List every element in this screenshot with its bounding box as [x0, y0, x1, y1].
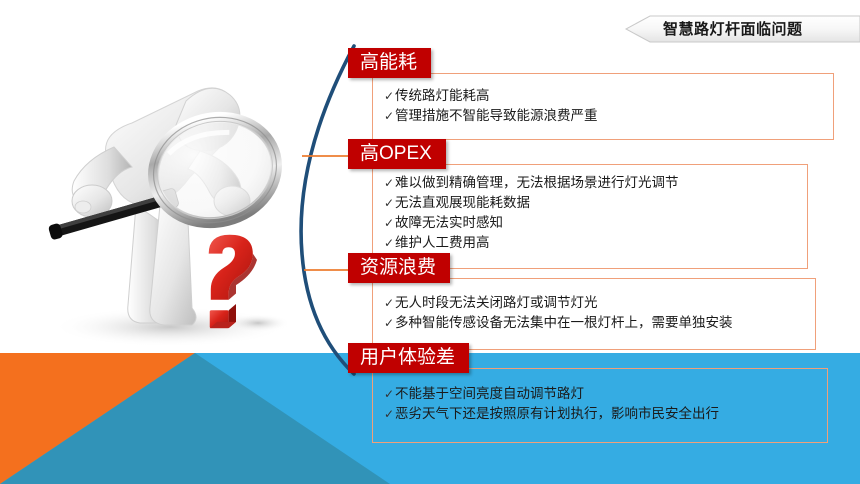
check-icon: ✓: [384, 405, 395, 424]
list-item: ✓多种智能传感设备无法集中在一根灯杆上，需要单独安装: [384, 313, 733, 333]
check-icon: ✓: [384, 214, 395, 233]
section-title-resource-waste: 资源浪费: [348, 253, 450, 283]
check-icon: ✓: [384, 234, 395, 253]
list-item: ✓传统路灯能耗高: [384, 86, 598, 106]
section-title-high-energy: 高能耗: [348, 48, 431, 78]
list-item-text: 无法直观展现能耗数据: [395, 195, 530, 210]
page-title: 智慧路灯杆面临问题: [663, 18, 803, 39]
list-item: ✓故障无法实时感知: [384, 213, 679, 233]
check-icon: ✓: [384, 194, 395, 213]
check-icon: ✓: [384, 314, 395, 333]
section-title-high-opex: 高OPEX: [348, 139, 446, 169]
list-item: ✓不能基于空间亮度自动调节路灯: [384, 384, 719, 404]
section-bullet-list: ✓传统路灯能耗高 ✓管理措施不智能导致能源浪费严重: [384, 86, 598, 126]
section-title-poor-ux: 用户体验差: [348, 343, 469, 373]
list-item-text: 管理措施不智能导致能源浪费严重: [395, 108, 598, 123]
list-item-text: 难以做到精确管理，无法根据场景进行灯光调节: [395, 175, 679, 190]
check-icon: ✓: [384, 174, 395, 193]
check-icon: ✓: [384, 107, 395, 126]
list-item-text: 恶劣天气下还是按照原有计划执行，影响市民安全出行: [395, 406, 719, 421]
check-icon: ✓: [384, 385, 395, 404]
list-item-text: 传统路灯能耗高: [395, 88, 490, 103]
list-item-text: 不能基于空间亮度自动调节路灯: [395, 386, 584, 401]
list-item: ✓难以做到精确管理，无法根据场景进行灯光调节: [384, 173, 679, 193]
magnifier-figure-illustration: [40, 55, 330, 355]
list-item: ✓管理措施不智能导致能源浪费严重: [384, 106, 598, 126]
check-icon: ✓: [384, 87, 395, 106]
section-bullet-list: ✓不能基于空间亮度自动调节路灯 ✓恶劣天气下还是按照原有计划执行，影响市民安全出…: [384, 384, 719, 424]
list-item-text: 无人时段无法关闭路灯或调节灯光: [395, 295, 598, 310]
list-item: ✓无人时段无法关闭路灯或调节灯光: [384, 293, 733, 313]
check-icon: ✓: [384, 294, 395, 313]
list-item-text: 多种智能传感设备无法集中在一根灯杆上，需要单独安装: [395, 315, 733, 330]
section-bullet-list: ✓无人时段无法关闭路灯或调节灯光 ✓多种智能传感设备无法集中在一根灯杆上，需要单…: [384, 293, 733, 333]
section-bullet-list: ✓难以做到精确管理，无法根据场景进行灯光调节 ✓无法直观展现能耗数据 ✓故障无法…: [384, 173, 679, 253]
list-item: ✓维护人工费用高: [384, 233, 679, 253]
list-item-text: 故障无法实时感知: [395, 215, 503, 230]
list-item: ✓无法直观展现能耗数据: [384, 193, 679, 213]
slide-canvas: 高能耗 ✓传统路灯能耗高 ✓管理措施不智能导致能源浪费严重 高OPEX ✓难以做…: [0, 0, 860, 484]
list-item-text: 维护人工费用高: [395, 235, 490, 250]
list-item: ✓恶劣天气下还是按照原有计划执行，影响市民安全出行: [384, 404, 719, 424]
